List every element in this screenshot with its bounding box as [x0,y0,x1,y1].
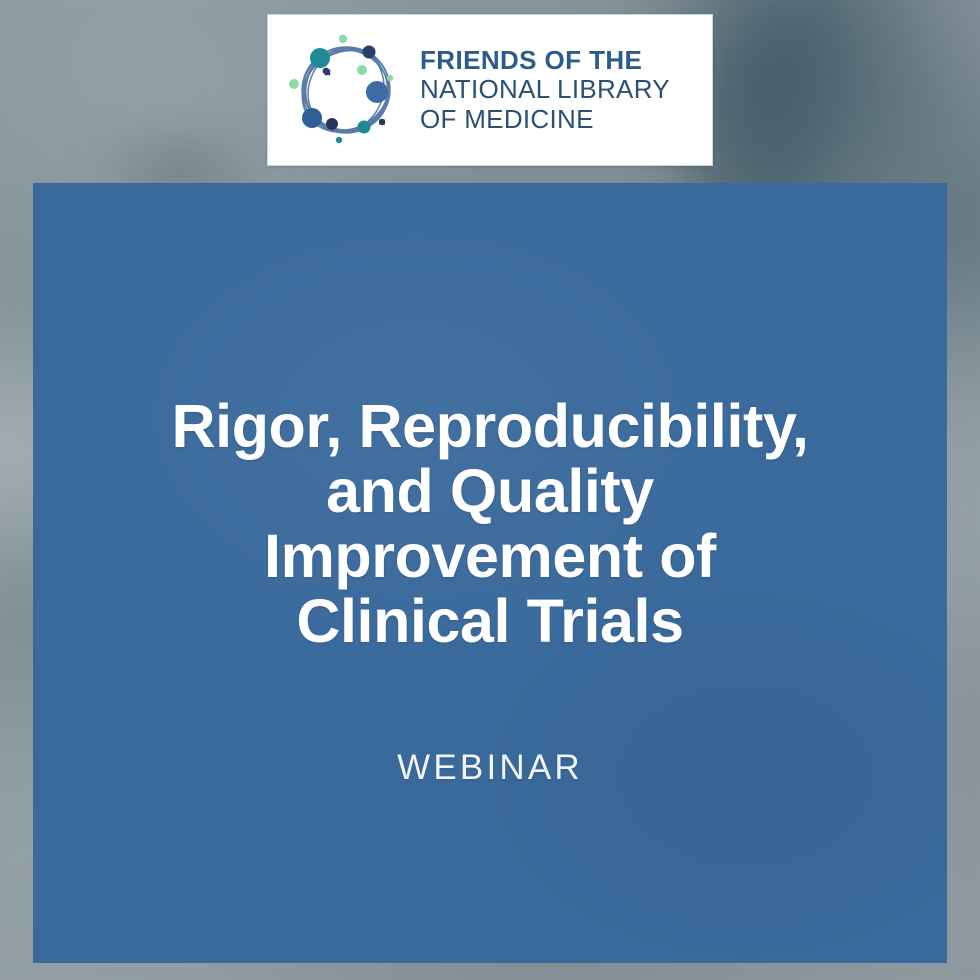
webinar-promo-poster: FRIENDS OF THE NATIONAL LIBRARY OF MEDIC… [0,0,980,980]
page-title-line: and Quality [73,459,907,524]
logo-node-blue [302,108,322,128]
logo-node-square [379,119,384,124]
logo-wordmark-line-1: FRIENDS OF THE [420,46,670,75]
logo-node-darknavy [326,118,338,130]
logo-node-navy [363,46,376,59]
logo-node-green [289,79,299,89]
logo-node-square [325,70,331,76]
logo-node-green [339,35,347,43]
page-title: Rigor, Reproducibility, and Quality Impr… [33,394,947,654]
logo-node-green [357,65,367,75]
logo-card: FRIENDS OF THE NATIONAL LIBRARY OF MEDIC… [267,14,713,166]
logo-node-green [387,75,393,81]
page-title-line: Rigor, Reproducibility, [73,394,907,459]
logo-node-small [336,137,342,143]
page-title-line: Clinical Trials [73,589,907,654]
logo-node-steel [366,81,388,103]
content-panel: Rigor, Reproducibility, and Quality Impr… [33,183,947,963]
logo-wordmark: FRIENDS OF THE NATIONAL LIBRARY OF MEDIC… [420,46,670,134]
logo-node-teal [310,48,330,68]
page-title-line: Improvement of [73,524,907,589]
logo-node-teal [358,121,371,134]
logo-wordmark-line-2: NATIONAL LIBRARY [420,75,670,104]
network-circle-nodes-icon [286,30,406,150]
logo-wordmark-line-3: OF MEDICINE [420,105,670,134]
event-type-label: WEBINAR [33,748,947,788]
